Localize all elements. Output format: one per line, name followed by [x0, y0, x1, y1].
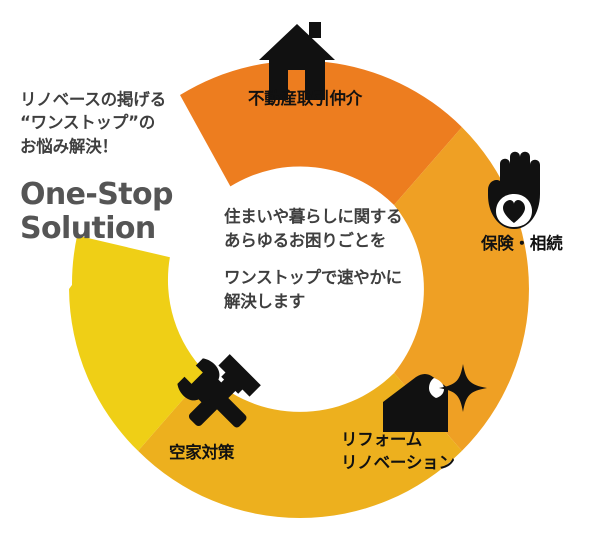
brand-title: One-Stop Solution [20, 178, 230, 246]
center-paragraph-2-line-2: 解決します [224, 290, 464, 314]
segment-label-real-estate[interactable]: 不動産取引仲介 [248, 88, 362, 111]
segment-label-reform-line-2: リノベーション [341, 452, 455, 475]
lead-line-1: リノベースの掲げる [20, 88, 230, 111]
center-paragraph-2-line-1: ワンストップで速やかに [224, 266, 464, 290]
segment-label-vacant-house[interactable]: 空家対策 [169, 442, 234, 465]
left-headline-block: リノベースの掲げる “ワンストップ”の お悩み解決！ One-Stop Solu… [20, 88, 230, 247]
brand-title-line-1: One-Stop [20, 178, 230, 212]
segment-label-insurance[interactable]: 保険・相続 [481, 233, 563, 256]
center-paragraph-1-line-2: あらゆるお困りごとを [224, 229, 464, 253]
center-copy-block: 住まいや暮らしに関する あらゆるお困りごとを ワンストップで速やかに 解決します [224, 205, 464, 314]
center-paragraph-1-line-1: 住まいや暮らしに関する [224, 205, 464, 229]
lead-line-3: お悩み解決！ [20, 135, 230, 158]
segment-label-reform[interactable]: リフォーム リノベーション [341, 429, 455, 475]
lead-line-2: “ワンストップ”の [20, 111, 230, 134]
hand-heart-icon [488, 152, 540, 229]
infographic-stage: リノベースの掲げる “ワンストップ”の お悩み解決！ One-Stop Solu… [0, 0, 600, 533]
segment-label-reform-line-1: リフォーム [341, 429, 455, 452]
brand-title-line-2: Solution [20, 212, 230, 246]
